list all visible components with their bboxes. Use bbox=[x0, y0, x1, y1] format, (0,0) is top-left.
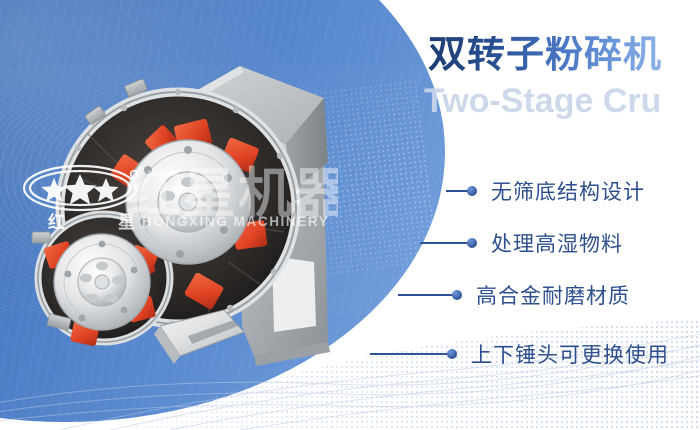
feature-label: 处理高湿物料 bbox=[491, 228, 623, 258]
feature-label: 无筛底结构设计 bbox=[491, 176, 645, 206]
feature-bullet-dot bbox=[447, 349, 457, 359]
feature-label: 上下锤头可更换使用 bbox=[471, 339, 669, 369]
feature-leader-line bbox=[398, 294, 453, 296]
page-title: 双转子粉碎机 bbox=[428, 36, 662, 74]
banner-canvas: 红 星 HONGXING MACHINERY 红星机器 双转子粉碎机 Two-S… bbox=[0, 0, 700, 430]
page-subtitle: Two-Stage Cru bbox=[424, 84, 661, 118]
feature-item-4[interactable]: 上下锤头可更换使用 bbox=[370, 342, 669, 366]
feature-leader-line bbox=[370, 353, 448, 355]
feature-item-1[interactable]: 无筛底结构设计 bbox=[446, 179, 645, 203]
feature-label: 高合金耐磨材质 bbox=[476, 280, 630, 310]
feature-leader-line bbox=[420, 242, 468, 244]
lower-rotor bbox=[54, 234, 150, 330]
feature-bullet-dot bbox=[452, 290, 462, 300]
feature-bullet-dot bbox=[467, 238, 477, 248]
product-illustration bbox=[28, 26, 358, 386]
upper-rotor bbox=[126, 140, 250, 264]
feature-item-2[interactable]: 处理高湿物料 bbox=[420, 231, 623, 255]
feature-item-3[interactable]: 高合金耐磨材质 bbox=[398, 283, 630, 307]
feature-leader-line bbox=[446, 190, 468, 192]
feature-bullet-dot bbox=[467, 186, 477, 196]
